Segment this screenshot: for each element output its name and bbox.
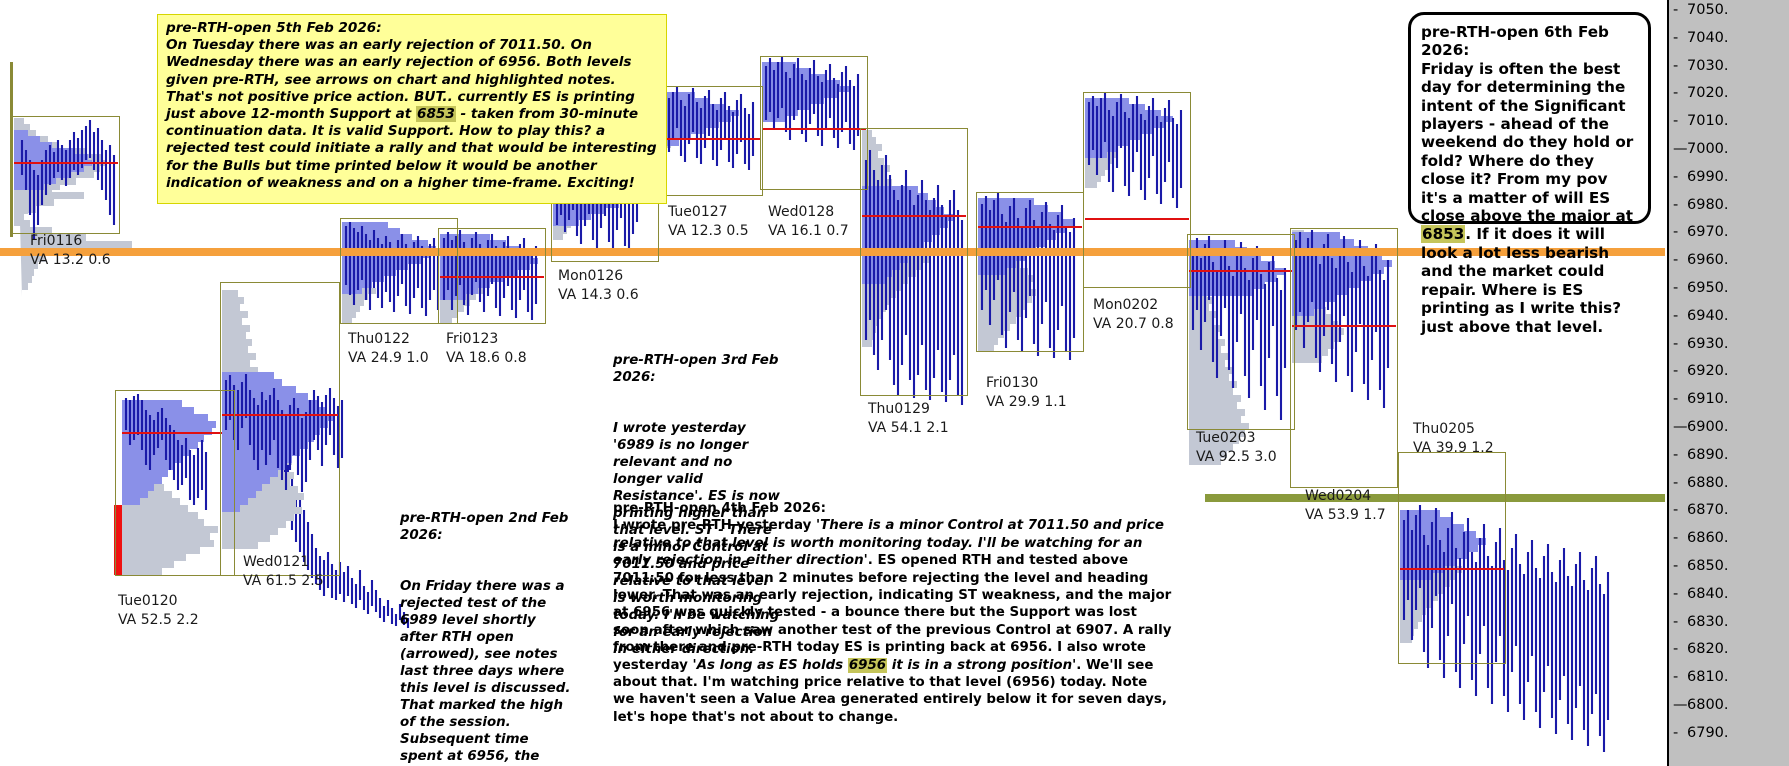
tick-dash-icon: - — [1669, 336, 1687, 352]
session-label-fri0130: Fri0130 VA 29.9 1.1 — [986, 374, 1067, 412]
session-name: Fri0130 — [986, 375, 1038, 391]
price-tick-6860: -6860. — [1669, 530, 1789, 546]
note-feb5-title: pre-RTH-open 5th Feb 2026: — [166, 20, 658, 37]
profile-box-wed0204[interactable] — [1290, 228, 1398, 488]
session-name: Tue0203 — [1196, 430, 1256, 446]
price-tick-7040: -7040. — [1669, 30, 1789, 46]
session-va: VA 29.9 1.1 — [986, 393, 1067, 412]
session-label-wed0204: Wed0204 VA 53.9 1.7 — [1305, 487, 1386, 525]
session-va: VA 14.3 0.6 — [558, 286, 639, 305]
level-line-6956 — [0, 248, 1665, 256]
tick-value: 6820. — [1687, 641, 1729, 657]
session-label-thu0129: Thu0129 VA 54.1 2.1 — [868, 400, 949, 438]
session-name: Mon0202 — [1093, 297, 1158, 313]
session-name: Tue0127 — [668, 204, 728, 220]
session-va: VA 20.7 0.8 — [1093, 315, 1174, 334]
session-name: Wed0121 — [243, 554, 309, 570]
tick-dash-icon: - — [1669, 614, 1687, 630]
note-feb2[interactable]: pre-RTH-open 2nd Feb 2026: On Friday the… — [400, 476, 575, 766]
session-label-tue0127: Tue0127 VA 12.3 0.5 — [668, 203, 749, 241]
tick-value: 6860. — [1687, 530, 1729, 546]
note-feb3-title: pre-RTH-open 3rd Feb 2026: — [613, 352, 785, 386]
session-label-wed0128: Wed0128 VA 16.1 0.7 — [768, 203, 849, 241]
tick-value: 6940. — [1687, 308, 1729, 324]
price-tick-6950: -6950. — [1669, 280, 1789, 296]
tick-value: 7020. — [1687, 85, 1729, 101]
session-va: VA 52.5 2.2 — [118, 611, 199, 630]
tick-dash-icon: — — [1669, 697, 1687, 713]
price-tick-7050: -7050. — [1669, 2, 1789, 18]
tick-dash-icon: - — [1669, 85, 1687, 101]
price-tick-6920: -6920. — [1669, 363, 1789, 379]
profile-box-mon0202[interactable] — [1083, 92, 1191, 288]
note-feb4[interactable]: pre-RTH-open 4th Feb 2026: I wrote pre-R… — [613, 500, 1173, 726]
price-tick-6990: -6990. — [1669, 169, 1789, 185]
price-tick-6870: -6870. — [1669, 502, 1789, 518]
tick-dash-icon: - — [1669, 224, 1687, 240]
price-tick-6890: -6890. — [1669, 447, 1789, 463]
tick-value: 6790. — [1687, 725, 1729, 741]
note-feb2-title: pre-RTH-open 2nd Feb 2026: — [400, 510, 575, 544]
tick-value: 6930. — [1687, 336, 1729, 352]
note-feb5-highlight: 6853 — [416, 106, 456, 122]
price-tick-6790: -6790. — [1669, 725, 1789, 741]
session-label-tue0120: Tue0120 VA 52.5 2.2 — [118, 592, 199, 630]
tick-dash-icon: - — [1669, 30, 1687, 46]
price-tick-6880: -6880. — [1669, 475, 1789, 491]
tick-dash-icon: - — [1669, 669, 1687, 685]
note-feb4-line1-b: '. ES opened RTH and tested above 7011.5… — [613, 553, 1171, 672]
tick-dash-icon: - — [1669, 558, 1687, 574]
tick-dash-icon: - — [1669, 502, 1687, 518]
tick-value: 6970. — [1687, 224, 1729, 240]
session-name: Thu0129 — [868, 401, 930, 417]
profile-box-fri0116[interactable] — [12, 116, 120, 234]
price-tick-7030: -7030. — [1669, 58, 1789, 74]
market-profile-chart: Fri0116 VA 13.2 0.6 Tue0120 VA 52.5 2.2 … — [0, 0, 1789, 766]
tick-value: 6890. — [1687, 447, 1729, 463]
tick-dash-icon: — — [1669, 419, 1687, 435]
tick-value: 6960. — [1687, 252, 1729, 268]
tick-value: 7040. — [1687, 30, 1729, 46]
note-feb4-line1-a: I wrote pre-RTH yesterday ' — [613, 518, 820, 533]
note-feb6-body: Friday is often the best day for determi… — [1421, 60, 1638, 336]
tick-value: 6910. — [1687, 391, 1729, 407]
session-name: Fri0116 — [30, 233, 82, 249]
tick-dash-icon: - — [1669, 447, 1687, 463]
session-name: Fri0123 — [446, 331, 498, 347]
session-va: VA 53.9 1.7 — [1305, 506, 1386, 525]
price-tick-7010: -7010. — [1669, 113, 1789, 129]
session-label-mon0126: Mon0126 VA 14.3 0.6 — [558, 267, 639, 305]
tick-dash-icon: - — [1669, 475, 1687, 491]
session-name: Mon0126 — [558, 268, 623, 284]
tick-value: 6870. — [1687, 502, 1729, 518]
tick-value: 6880. — [1687, 475, 1729, 491]
price-tick-6940: -6940. — [1669, 308, 1789, 324]
price-tick-6910: -6910. — [1669, 391, 1789, 407]
price-tick-6820: -6820. — [1669, 641, 1789, 657]
tick-value: 7000. — [1687, 141, 1729, 157]
profile-box-tue0127[interactable] — [655, 86, 763, 196]
price-tick-6810: -6810. — [1669, 669, 1789, 685]
tick-value: 6990. — [1687, 169, 1729, 185]
session-label-thu0205: Thu0205 VA 39.9 1.2 — [1413, 420, 1494, 458]
tick-value: 7030. — [1687, 58, 1729, 74]
session-va: VA 12.3 0.5 — [668, 222, 749, 241]
profile-box-wed0128[interactable] — [760, 56, 868, 190]
tick-dash-icon: - — [1669, 641, 1687, 657]
session-label-fri0123: Fri0123 VA 18.6 0.8 — [446, 330, 527, 368]
note-feb4-title: pre-RTH-open 4th Feb 2026: — [613, 500, 1173, 517]
session-va: VA 39.9 1.2 — [1413, 439, 1494, 458]
price-tick-7000: —7000. — [1669, 141, 1789, 157]
session-va: VA 16.1 0.7 — [768, 222, 849, 241]
price-tick-6850: -6850. — [1669, 558, 1789, 574]
price-tick-6970: -6970. — [1669, 224, 1789, 240]
tick-dash-icon: - — [1669, 530, 1687, 546]
session-label-mon0202: Mon0202 VA 20.7 0.8 — [1093, 296, 1174, 334]
price-tick-6980: -6980. — [1669, 197, 1789, 213]
session-va: VA 24.9 1.0 — [348, 349, 429, 368]
session-va: VA 54.1 2.1 — [868, 419, 949, 438]
profile-box-tue0120[interactable] — [115, 390, 235, 576]
tick-value: 7010. — [1687, 113, 1729, 129]
profile-box-thu0205[interactable] — [1398, 452, 1506, 664]
tick-dash-icon: - — [1669, 197, 1687, 213]
note-feb2-body: On Friday there was a rejected test of t… — [400, 578, 575, 766]
price-tick-6800: —6800. — [1669, 697, 1789, 713]
tick-dash-icon: - — [1669, 113, 1687, 129]
tick-value: 6900. — [1687, 419, 1729, 435]
profile-box-thu0129[interactable] — [860, 128, 968, 396]
tick-value: 6840. — [1687, 586, 1729, 602]
tick-value: 6800. — [1687, 697, 1729, 713]
note-feb6[interactable]: pre-RTH-open 6th Feb 2026: Friday is oft… — [1408, 12, 1651, 224]
tick-dash-icon: - — [1669, 252, 1687, 268]
note-feb4-body: I wrote pre-RTH yesterday 'There is a mi… — [613, 517, 1173, 726]
tick-dash-icon: - — [1669, 363, 1687, 379]
tick-value: 6950. — [1687, 280, 1729, 296]
session-name: Wed0204 — [1305, 488, 1371, 504]
tick-value: 7050. — [1687, 2, 1729, 18]
tick-dash-icon: - — [1669, 169, 1687, 185]
session-name: Wed0128 — [768, 204, 834, 220]
tick-dash-icon: - — [1669, 58, 1687, 74]
profile-box-wed0121[interactable] — [220, 282, 340, 576]
tick-value: 6810. — [1687, 669, 1729, 685]
session-va: VA 92.5 3.0 — [1196, 448, 1277, 467]
tick-dash-icon: - — [1669, 308, 1687, 324]
session-label-fri0116: Fri0116 VA 13.2 0.6 — [30, 232, 111, 270]
session-va: VA 61.5 2.5 — [243, 572, 324, 591]
tick-dash-icon: - — [1669, 586, 1687, 602]
note-feb4-highlight: 6956 — [848, 658, 887, 673]
session-va: VA 18.6 0.8 — [446, 349, 527, 368]
tick-value: 6920. — [1687, 363, 1729, 379]
session-name: Tue0120 — [118, 593, 178, 609]
tick-value: 6980. — [1687, 197, 1729, 213]
profile-box-fri0130[interactable] — [976, 192, 1084, 352]
tick-dash-icon: - — [1669, 391, 1687, 407]
price-tick-6830: -6830. — [1669, 614, 1789, 630]
session-label-tue0203: Tue0203 VA 92.5 3.0 — [1196, 429, 1277, 467]
profile-box-fri0123[interactable] — [438, 228, 546, 324]
tick-value: 6830. — [1687, 614, 1729, 630]
note-feb4-quote2: As long as ES holds — [697, 658, 848, 673]
price-tick-7020: -7020. — [1669, 85, 1789, 101]
tick-value: 6850. — [1687, 558, 1729, 574]
note-feb6-highlight: 6853 — [1421, 225, 1465, 243]
tick-dash-icon: - — [1669, 280, 1687, 296]
plot-area[interactable]: Fri0116 VA 13.2 0.6 Tue0120 VA 52.5 2.2 … — [0, 0, 1665, 766]
session-name: Thu0122 — [348, 331, 410, 347]
note-feb5[interactable]: pre-RTH-open 5th Feb 2026: On Tuesday th… — [157, 14, 667, 204]
session-label-wed0121: Wed0121 VA 61.5 2.5 — [243, 553, 324, 591]
note-feb6-body-before: Friday is often the best day for determi… — [1421, 60, 1633, 225]
session-label-thu0122: Thu0122 VA 24.9 1.0 — [348, 330, 429, 368]
profile-box-tue0203[interactable] — [1187, 234, 1295, 430]
tick-dash-icon: — — [1669, 141, 1687, 157]
price-tick-6900: —6900. — [1669, 419, 1789, 435]
note-feb5-body: On Tuesday there was an early rejection … — [166, 37, 658, 192]
price-axis[interactable]: -7050.-7040.-7030.-7020.-7010.—7000.-699… — [1667, 0, 1789, 766]
price-tick-6840: -6840. — [1669, 586, 1789, 602]
session-va: VA 13.2 0.6 — [30, 251, 111, 270]
tick-dash-icon: - — [1669, 2, 1687, 18]
price-tick-6930: -6930. — [1669, 336, 1789, 352]
session-name: Thu0205 — [1413, 421, 1475, 437]
note-feb4-quote2b: it is in a strong position — [887, 658, 1072, 673]
note-feb6-title: pre-RTH-open 6th Feb 2026: — [1421, 23, 1638, 60]
tick-dash-icon: - — [1669, 725, 1687, 741]
price-tick-6960: -6960. — [1669, 252, 1789, 268]
